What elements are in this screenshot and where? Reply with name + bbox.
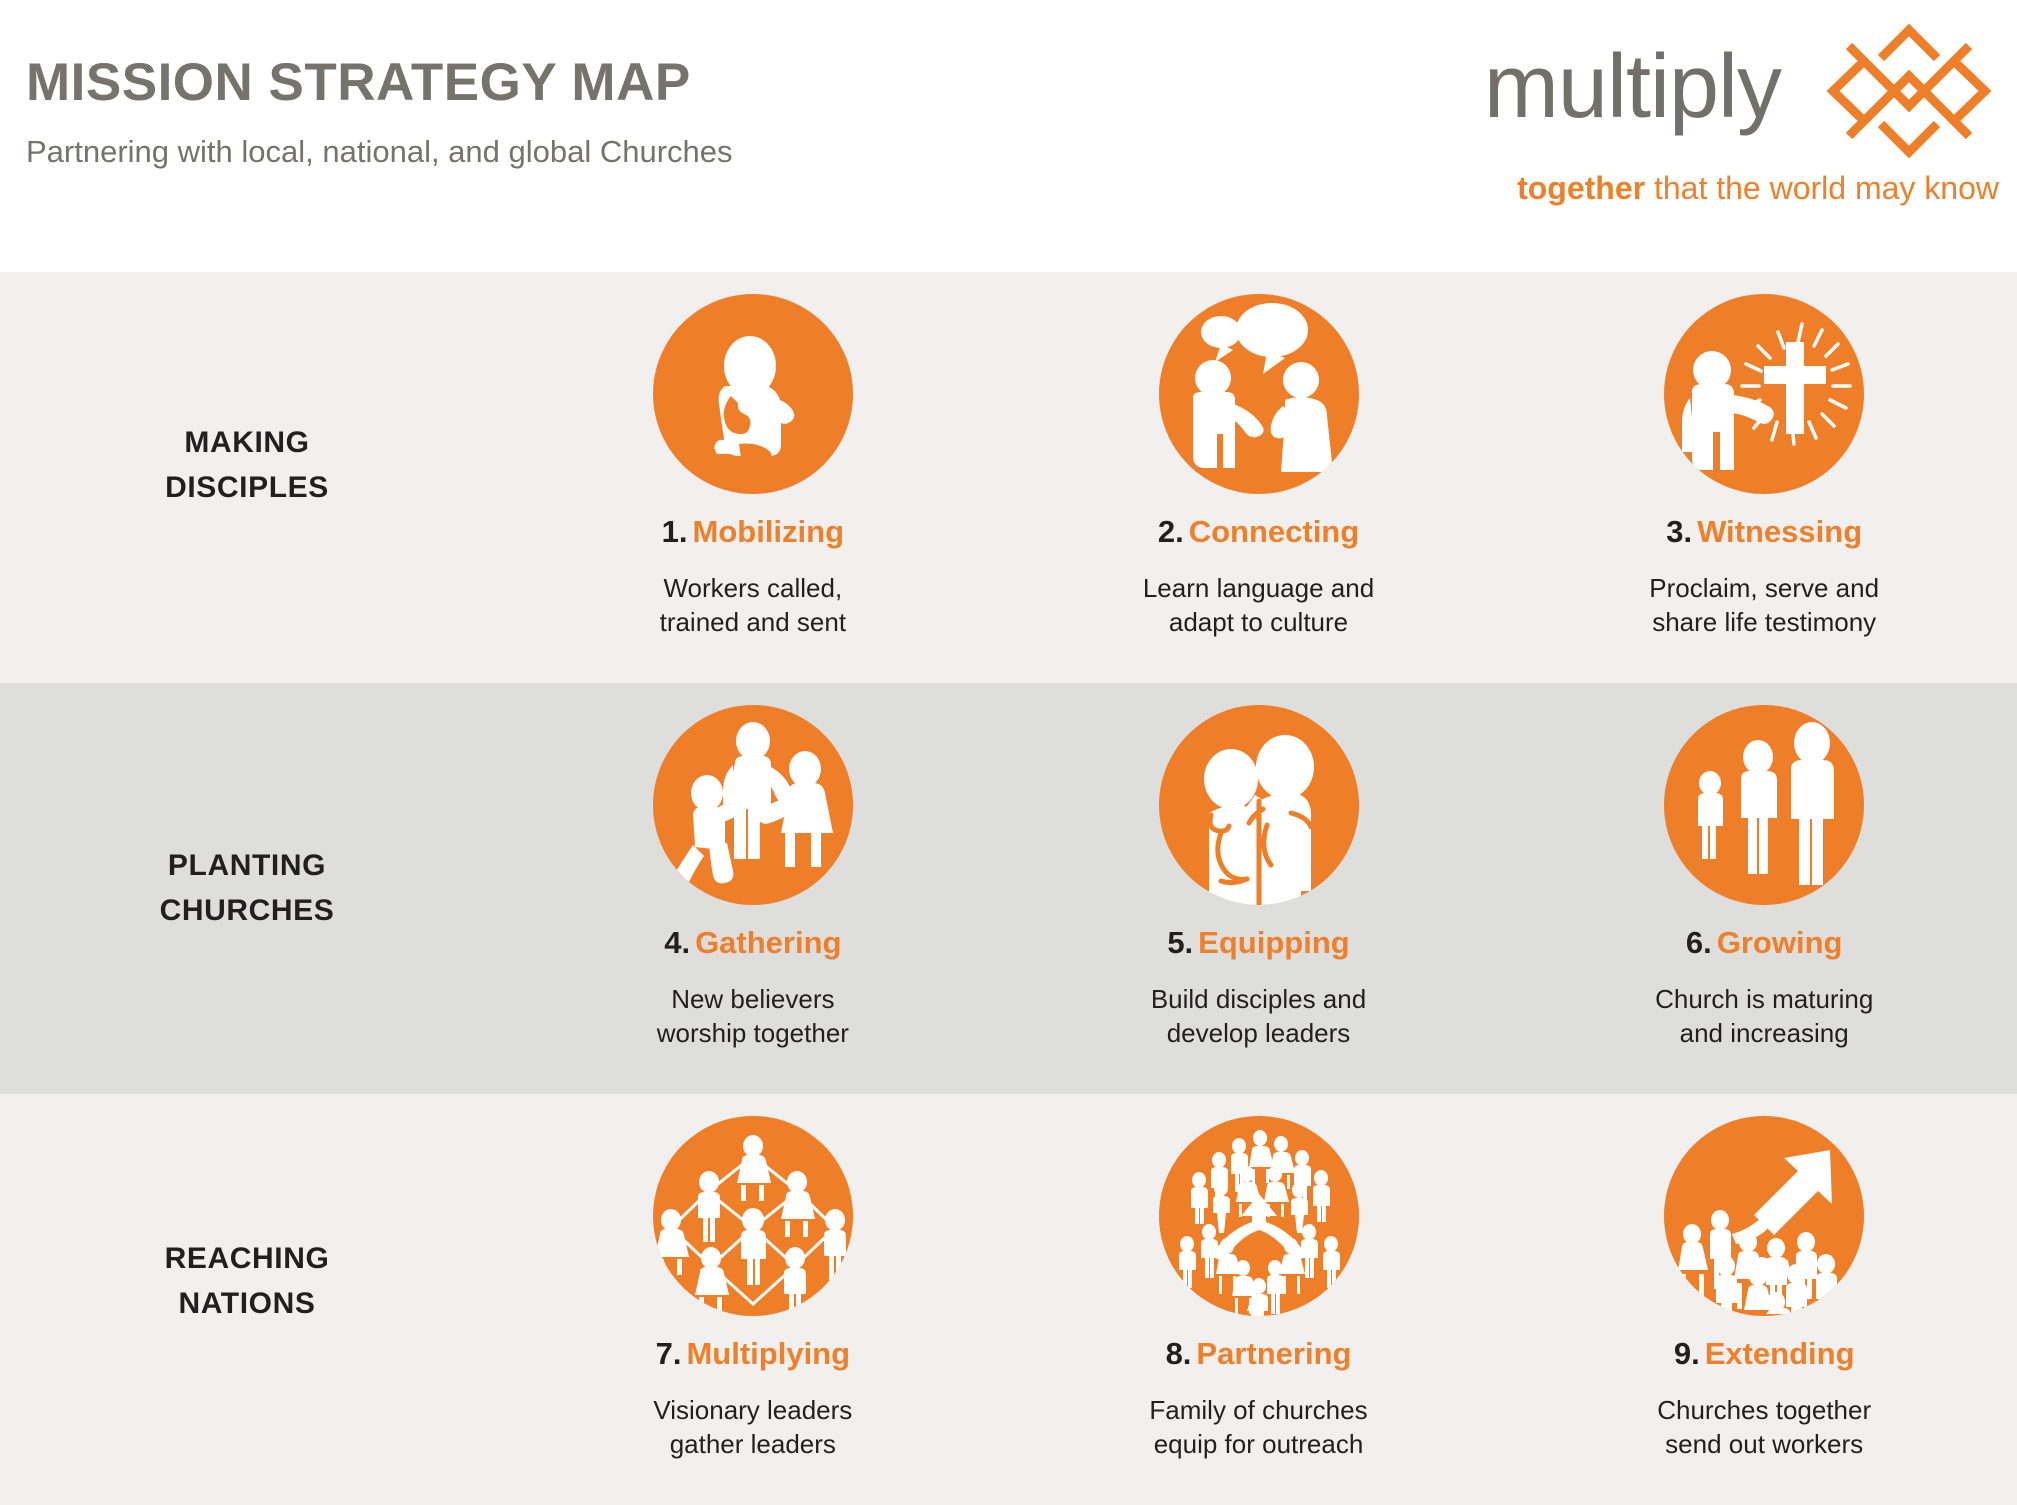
multiply-diamond-mark-icon [1819,18,1999,163]
card-heading: 6.Growing [1686,927,1843,958]
card-title: Connecting [1189,514,1360,549]
card-title: Witnessing [1697,514,1862,549]
card-description: Proclaim, serve and share life testimony [1649,571,1879,640]
row-label-making-disciples: MAKING DISCIPLES [0,272,500,683]
card-description: Churches together send out workers [1657,1393,1871,1462]
row-label-line1: PLANTING [168,843,326,888]
page-subtitle: Partnering with local, national, and glo… [26,135,733,169]
three-figures-increasing-size-icon [1664,705,1864,905]
kneeling-praying-person-icon [653,294,853,494]
card-desc-line1: New believers [657,982,849,1016]
card-heading: 7.Multiplying [656,1338,850,1369]
row-label-planting-churches: PLANTING CHURCHES [0,683,500,1094]
card-description: Learn language and adapt to culture [1143,571,1374,640]
person-pointing-radiant-cross-icon [1664,294,1864,494]
card-number: 3. [1666,514,1692,549]
row-label-line1: REACHING [165,1236,330,1281]
card-title: Partnering [1196,1336,1351,1371]
card-number: 2. [1158,514,1184,549]
card-title: Multiplying [686,1336,850,1371]
card-description: Visionary leaders gather leaders [653,1393,852,1462]
logo-tagline: together that the world may know [1517,172,1999,204]
mission-strategy-map-page: MISSION STRATEGY MAP Partnering with loc… [0,0,2017,1505]
card-description: New believers worship together [657,982,849,1051]
card-partnering[interactable]: 8.Partnering Family of churches equip fo… [1006,1094,1512,1505]
strategy-rows: MAKING DISCIPLES [0,272,2017,1505]
two-people-speech-bubbles-icon [1159,294,1359,494]
row-label-line2: NATIONS [179,1281,316,1326]
three-people-gathering-icon [653,705,853,905]
card-heading: 5.Equipping [1167,927,1349,958]
card-desc-line2: gather leaders [653,1427,852,1461]
card-description: Church is maturing and increasing [1655,982,1873,1051]
card-mobilizing[interactable]: 1.Mobilizing Workers called, trained and… [500,272,1006,683]
logo-tagline-bold: together [1517,170,1645,206]
card-multiplying[interactable]: 7.Multiplying Visionary leaders gather l… [500,1094,1006,1505]
multiply-logo: multiply [1407,14,2007,214]
card-desc-line1: Family of churches [1149,1393,1367,1427]
crowd-outgoing-arrow-icon [1664,1116,1864,1316]
page-title: MISSION STRATEGY MAP [26,56,733,109]
card-desc-line1: Churches together [1657,1393,1871,1427]
card-witnessing[interactable]: 3.Witnessing Proclaim, serve and share l… [1511,272,2017,683]
card-number: 8. [1166,1336,1192,1371]
card-desc-line2: and increasing [1655,1016,1873,1050]
row-cards: 4.Gathering New believers worship togeth… [500,683,2017,1094]
card-number: 5. [1167,925,1193,960]
card-heading: 3.Witnessing [1666,516,1862,547]
people-network-diamond-icon [653,1116,853,1316]
crowd-converging-arrow-icon [1159,1116,1359,1316]
row-cards: 7.Multiplying Visionary leaders gather l… [500,1094,2017,1505]
card-number: 1. [662,514,688,549]
card-desc-line2: develop leaders [1151,1016,1366,1050]
card-description: Workers called, trained and sent [660,571,846,640]
card-desc-line1: Learn language and [1143,571,1374,605]
card-heading: 9.Extending [1674,1338,1855,1369]
logo-tagline-rest: that the world may know [1645,170,1999,206]
card-desc-line2: worship together [657,1016,849,1050]
row-reaching-nations: REACHING NATIONS [0,1094,2017,1505]
card-desc-line2: adapt to culture [1143,605,1374,639]
card-heading: 1.Mobilizing [662,516,844,547]
card-desc-line1: Visionary leaders [653,1393,852,1427]
logo-wordmark: multiply [1484,42,1781,132]
card-heading: 4.Gathering [664,927,841,958]
mentor-arm-around-shoulder-icon [1159,705,1359,905]
card-connecting[interactable]: 2.Connecting Learn language and adapt to… [1006,272,1512,683]
row-label-line2: CHURCHES [160,888,335,933]
card-number: 9. [1674,1336,1700,1371]
card-desc-line1: Church is maturing [1655,982,1873,1016]
card-description: Family of churches equip for outreach [1149,1393,1367,1462]
card-title: Mobilizing [693,514,845,549]
card-equipping[interactable]: 5.Equipping Build disciples and develop … [1006,683,1512,1094]
card-desc-line1: Workers called, [660,571,846,605]
title-block: MISSION STRATEGY MAP Partnering with loc… [26,56,733,169]
card-heading: 2.Connecting [1158,516,1359,547]
card-desc-line2: trained and sent [660,605,846,639]
card-title: Extending [1705,1336,1855,1371]
card-gathering[interactable]: 4.Gathering New believers worship togeth… [500,683,1006,1094]
card-title: Growing [1717,925,1843,960]
card-title: Equipping [1198,925,1350,960]
page-header: MISSION STRATEGY MAP Partnering with loc… [0,0,2017,272]
card-desc-line2: share life testimony [1649,605,1879,639]
row-cards: 1.Mobilizing Workers called, trained and… [500,272,2017,683]
card-desc-line2: equip for outreach [1149,1427,1367,1461]
card-desc-line1: Proclaim, serve and [1649,571,1879,605]
row-planting-churches: PLANTING CHURCHES [0,683,2017,1094]
row-label-reaching-nations: REACHING NATIONS [0,1094,500,1505]
row-label-line2: DISCIPLES [165,465,329,510]
row-label-line1: MAKING [184,420,309,465]
card-description: Build disciples and develop leaders [1151,982,1366,1051]
card-heading: 8.Partnering [1166,1338,1352,1369]
card-number: 6. [1686,925,1712,960]
card-desc-line2: send out workers [1657,1427,1871,1461]
card-number: 7. [656,1336,682,1371]
card-growing[interactable]: 6.Growing Church is maturing and increas… [1511,683,2017,1094]
card-title: Gathering [695,925,841,960]
row-making-disciples: MAKING DISCIPLES [0,272,2017,683]
card-number: 4. [664,925,690,960]
card-extending[interactable]: 9.Extending Churches together send out w… [1511,1094,2017,1505]
card-desc-line1: Build disciples and [1151,982,1366,1016]
